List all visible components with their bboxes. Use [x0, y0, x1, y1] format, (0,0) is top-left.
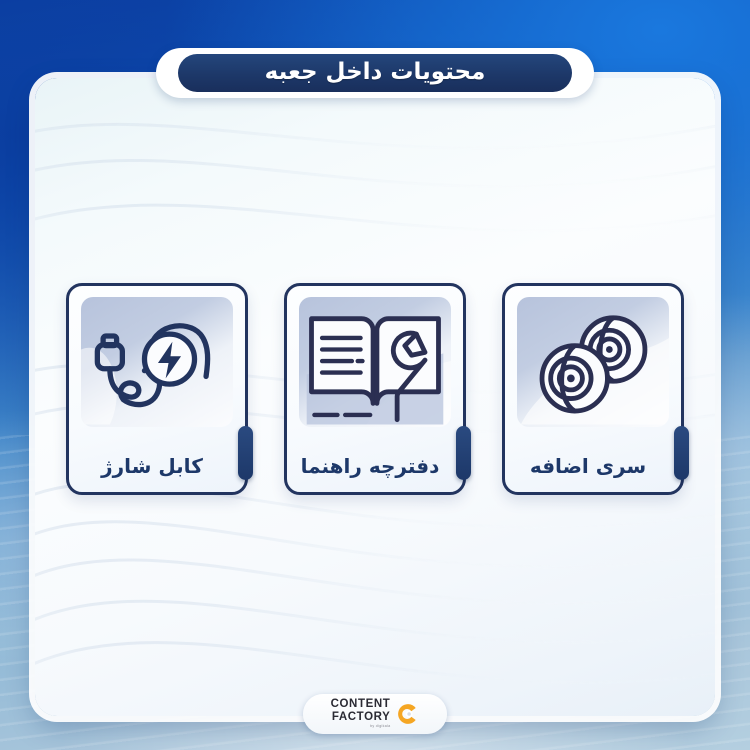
extra-eartips-icon [517, 297, 669, 427]
logo-line-2: FACTORY [332, 712, 391, 724]
card-manual-book[interactable]: دفترچه راهنما [284, 283, 466, 495]
card-accent-pill [674, 426, 689, 480]
card-extra-eartips[interactable]: سری اضافه [502, 283, 684, 495]
card-accent-pill [456, 426, 471, 480]
charging-cable-icon [81, 297, 233, 427]
logo-text-block: CONTENT FACTORY by digikala [331, 699, 391, 728]
page-title: محتویات داخل جعبه [265, 59, 486, 85]
poster-canvas: محتویات داخل جعبه [0, 0, 750, 750]
card-label: کابل شارژ [75, 455, 229, 478]
card-label: دفترچه راهنما [293, 455, 447, 478]
card-charging-cable[interactable]: کابل شارژ [66, 283, 248, 495]
logo-line-1: CONTENT [331, 699, 391, 711]
card-label: سری اضافه [511, 455, 665, 478]
content-factory-logo: CONTENT FACTORY by digikala [303, 694, 447, 734]
title-badge: محتویات داخل جعبه [156, 48, 594, 98]
title-badge-inner: محتویات داخل جعبه [178, 54, 572, 92]
card-accent-pill [238, 426, 253, 480]
manual-book-wrench-icon [299, 297, 451, 427]
contents-card-row: کابل شارژ [66, 283, 684, 495]
logo-subtitle: by digikala [370, 725, 390, 729]
content-factory-c-icon [397, 703, 419, 725]
